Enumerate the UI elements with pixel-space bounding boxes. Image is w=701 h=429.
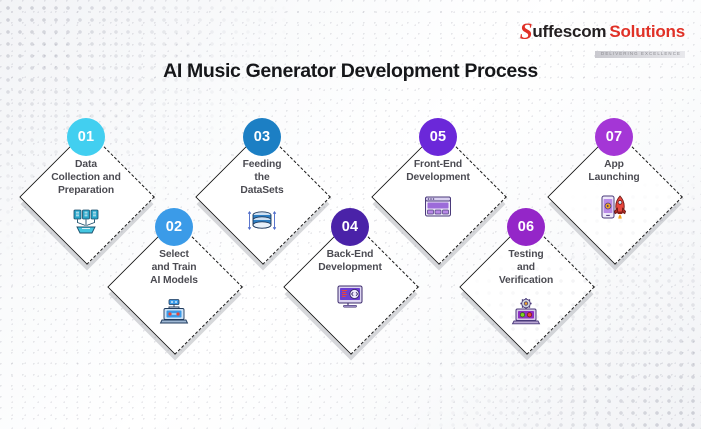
logo-wordmark: SuffescomSolutions (520, 20, 685, 43)
logo-tagline: DELIVERING EXCELLENCE (595, 51, 685, 58)
company-logo: SuffescomSolutions DELIVERING EXCELLENCE (520, 20, 685, 59)
page-title: AI Music Generator Development Process (0, 60, 701, 83)
step-number-badge[interactable]: 02 (155, 208, 193, 246)
step-number-badge[interactable]: 04 (331, 208, 369, 246)
step-number-badge[interactable]: 07 (595, 118, 633, 156)
step-number-badge[interactable]: 03 (243, 118, 281, 156)
step-number-badge[interactable]: 05 (419, 118, 457, 156)
step-number-badge[interactable]: 06 (507, 208, 545, 246)
logo-word-suffescom: uffescom (532, 22, 606, 41)
logo-initial-s: S (520, 19, 533, 44)
logo-word-solutions: Solutions (609, 22, 685, 41)
step-number-badge[interactable]: 01 (67, 118, 105, 156)
process-step-07[interactable]: App Launching07 (548, 130, 680, 262)
infographic-canvas: SuffescomSolutions DELIVERING EXCELLENCE… (0, 0, 701, 429)
